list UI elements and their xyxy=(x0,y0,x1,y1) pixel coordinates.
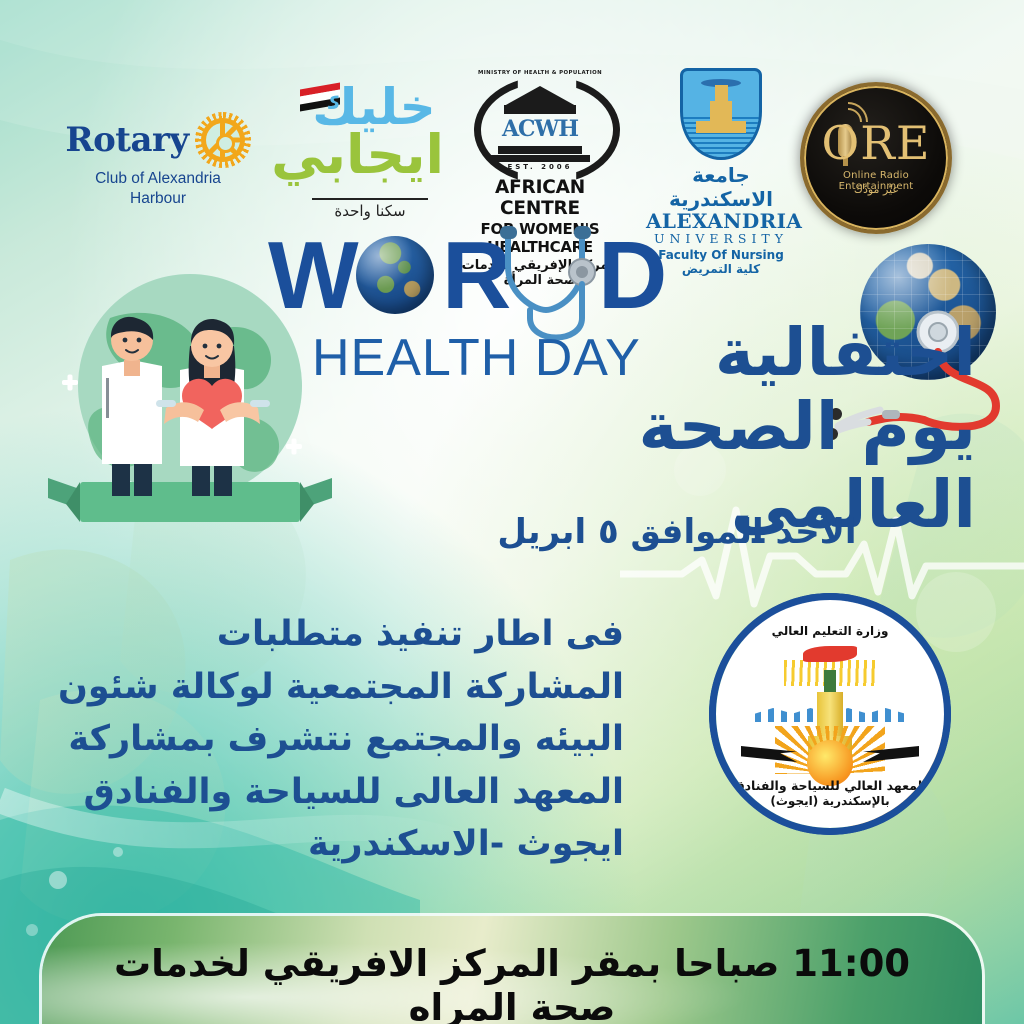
khalik-calligraphy-bottom: ايجابي xyxy=(298,128,444,182)
airplane-icon xyxy=(803,646,857,662)
acwh-established: EST. 2006 xyxy=(474,163,606,171)
alex-faculty-arabic: كلية التمريض xyxy=(682,262,760,276)
seal-institute-line1: المعهد العالي للسياحة والفنادق xyxy=(716,778,944,793)
acwh-ministry-arc: MINISTRY OF HEALTH & POPULATION xyxy=(474,70,606,76)
seal-institute-line2: بالإسكندرية (ايجوث) xyxy=(716,794,944,808)
lighthouse-icon xyxy=(824,670,836,694)
alex-arabic-name: جامعة الاسكندرية xyxy=(646,163,796,211)
event-date: الأحد الموافق ٥ ابريل xyxy=(442,512,912,552)
sponsor-logo-row: Rotary Club of Alexandria Harbour xyxy=(0,34,1024,212)
rotary-wordmark: Rotary xyxy=(65,123,188,157)
rotary-wheel-icon xyxy=(195,112,251,168)
ore-monogram: ORE xyxy=(804,120,948,166)
headline-line1: احتفالية xyxy=(436,318,976,388)
bottom-info-banner: 11:00 صباحا بمقر المركز الافريقي لخدمات … xyxy=(42,916,982,1024)
poster-canvas: Rotary Club of Alexandria Harbour xyxy=(0,0,1024,1024)
rotary-club-logo: Rotary Club of Alexandria Harbour xyxy=(42,112,274,209)
rotary-subtitle-line1: Club of Alexandria xyxy=(42,170,274,188)
world-letter-d: D xyxy=(598,228,667,324)
arabic-headline: احتفالية يوم الصحة العالمي xyxy=(436,318,976,544)
acwh-title-line1: AFRICAN CENTRE xyxy=(452,177,628,219)
ore-radio-logo: ORE Online Radio Entertainment غيّر مودّ… xyxy=(800,82,950,232)
classical-building-wreath-icon: MINISTRY OF HEALTH & POPULATION ACWH EST… xyxy=(474,70,606,174)
acwh-monogram: ACWH xyxy=(504,113,576,145)
egoth-institute-seal: وزارة التعليم العالي المعهد العالي للسيا… xyxy=(716,600,944,828)
banner-time-location-text: 11:00 صباحا بمقر المركز الافريقي لخدمات … xyxy=(42,942,982,1024)
khalik-divider xyxy=(312,198,428,200)
khalik-tagline: سكنا واحدة xyxy=(296,202,444,220)
seal-ministry-text: وزارة التعليم العالي xyxy=(716,624,944,638)
body-paragraph: فى اطار تنفيذ متطلبات المشاركة المجتمعية… xyxy=(54,608,624,871)
ore-arabic-tagline: غيّر مودّك xyxy=(804,183,948,196)
lighthouse-shield-icon xyxy=(680,68,762,160)
world-letter-w: W xyxy=(268,228,359,324)
khalik-egaby-logo: خليك ايجابي سكنا واحدة xyxy=(296,76,444,228)
earth-globe-icon xyxy=(356,236,434,314)
rotary-subtitle-line2: Harbour xyxy=(42,190,274,208)
